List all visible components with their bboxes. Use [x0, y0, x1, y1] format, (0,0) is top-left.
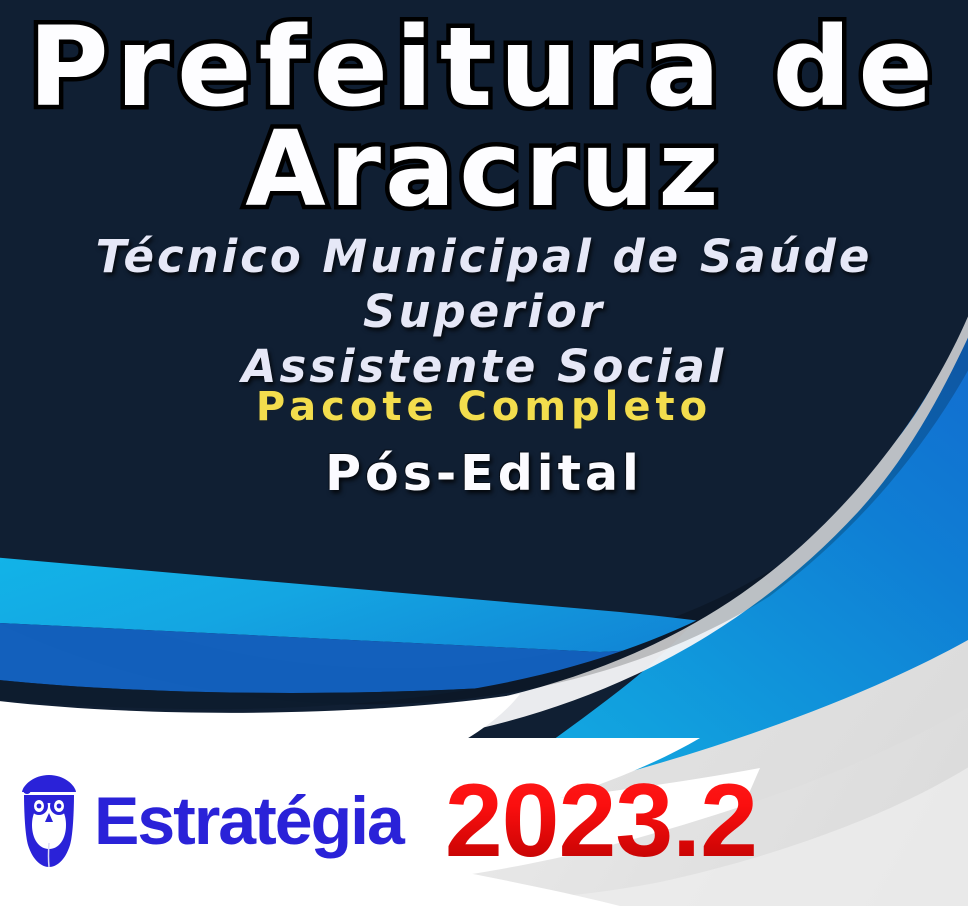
owl-graduate-icon	[18, 773, 80, 869]
poster-title-line-1: Prefeitura de	[0, 14, 968, 121]
poster-subtitle-line-3: Assistente Social	[0, 344, 968, 389]
package-label: Pacote Completo	[0, 387, 968, 427]
poster-subtitle-line-2: Superior	[0, 289, 968, 334]
poster-subtitle-line-1: Técnico Municipal de Saúde	[0, 234, 968, 279]
course-poster: Prefeitura de Aracruz Técnico Municipal …	[0, 0, 968, 906]
brand-name: Estratégia	[94, 787, 403, 855]
phase-label: Pós-Edital	[0, 449, 968, 498]
brand-lockup: Estratégia	[18, 773, 403, 869]
poster-footer: Estratégia 2023.2	[0, 736, 968, 906]
poster-text-block: Prefeitura de Aracruz Técnico Municipal …	[0, 0, 968, 498]
year-label: 2023.2	[445, 769, 757, 873]
poster-title-line-2: Aracruz	[0, 119, 968, 220]
